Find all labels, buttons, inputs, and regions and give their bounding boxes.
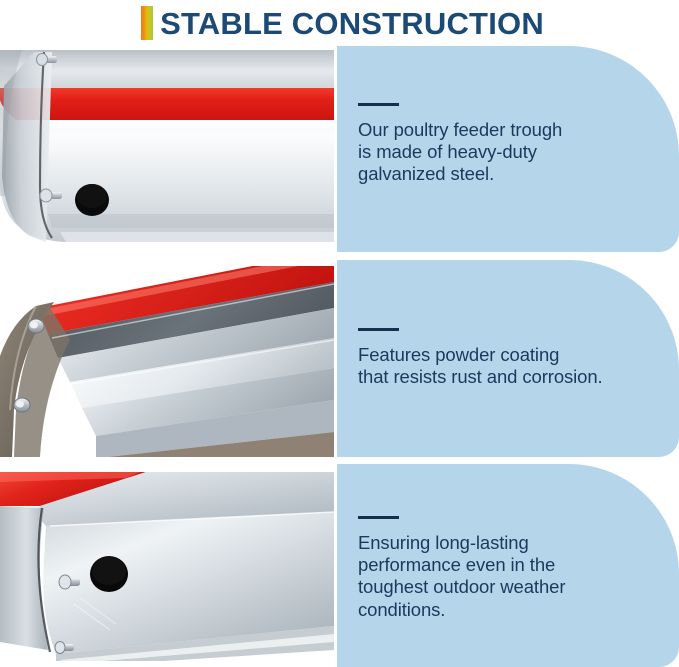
product-photo-1: [0, 46, 334, 252]
feature-text-2: Features powder coating that resists rus…: [358, 344, 649, 388]
product-photo-2-graphic: [0, 260, 334, 457]
divider-dash-icon: [358, 103, 399, 106]
page-title: STABLE CONSTRUCTION: [160, 8, 544, 39]
feature-panel-3: Ensuring long-lasting performance even i…: [337, 464, 679, 667]
product-photo-3-graphic: [0, 464, 334, 667]
accent-gradient-bar-icon: [141, 6, 153, 40]
feature-row-3: Ensuring long-lasting performance even i…: [0, 464, 679, 667]
product-photo-3: [0, 464, 334, 667]
divider-dash-icon: [358, 328, 399, 331]
feature-row-1: Our poultry feeder trough is made of hea…: [0, 46, 679, 252]
feature-text-1: Our poultry feeder trough is made of hea…: [358, 119, 649, 186]
feature-text-3: Ensuring long-lasting performance even i…: [358, 532, 649, 621]
product-photo-1-graphic: [0, 46, 334, 252]
header-inner: STABLE CONSTRUCTION: [141, 6, 544, 40]
product-photo-2: [0, 260, 334, 457]
page-header: STABLE CONSTRUCTION: [0, 0, 679, 46]
feature-row-2: Features powder coating that resists rus…: [0, 260, 679, 457]
bolt-lower: [14, 398, 30, 412]
feature-panel-1-content: Our poultry feeder trough is made of hea…: [358, 103, 649, 186]
feature-panel-3-content: Ensuring long-lasting performance even i…: [358, 516, 649, 621]
feature-panel-2-content: Features powder coating that resists rus…: [358, 328, 649, 388]
bolt-upper: [28, 319, 44, 333]
divider-dash-icon: [358, 516, 399, 519]
feature-panel-1: Our poultry feeder trough is made of hea…: [337, 46, 679, 252]
feature-panel-2: Features powder coating that resists rus…: [337, 260, 679, 457]
